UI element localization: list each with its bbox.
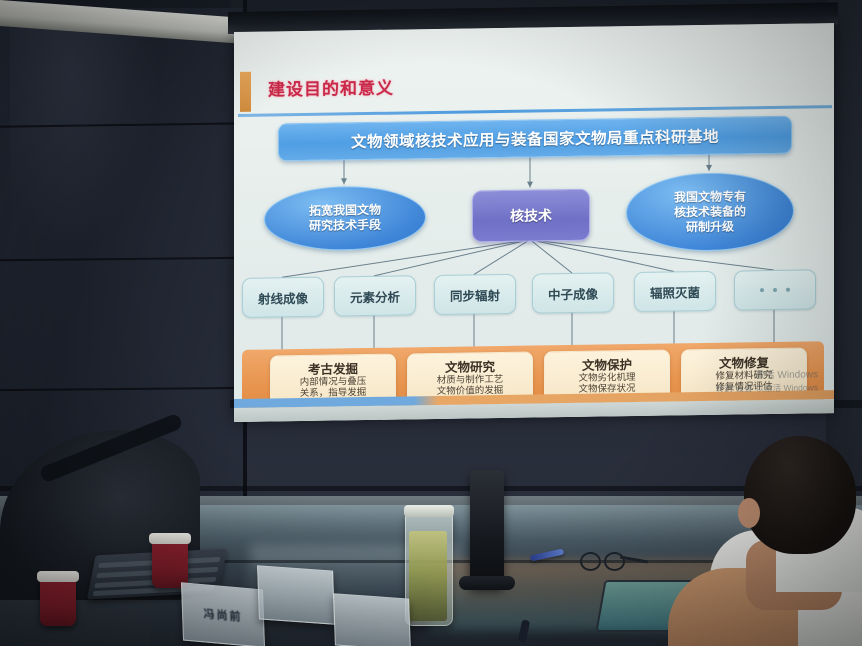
ellipsis-icon <box>760 288 790 292</box>
org-diagram: 文物领域核技术应用与装备国家文物局重点科研基地 拓宽我国文物 研究技术手段 核技… <box>234 109 834 414</box>
wall-seam <box>0 257 246 262</box>
title-accent-bar <box>240 72 251 112</box>
application-line1: 文物劣化机理 <box>578 372 635 384</box>
technique-label: 元素分析 <box>350 286 400 306</box>
attendee-head <box>744 436 856 554</box>
name-plate-text: 冯尚前 <box>190 590 255 640</box>
technique-label: 同步辐射 <box>450 285 500 305</box>
technique-label: 辐照灭菌 <box>650 282 700 302</box>
application-heading: 考古发掘 <box>308 362 358 377</box>
paper-cup <box>152 540 188 588</box>
cup-lid <box>149 533 191 544</box>
diagram-core-node: 核技术 <box>472 189 590 243</box>
application-line1: 材质与制作工艺 <box>437 374 504 386</box>
wall-seam <box>0 387 246 391</box>
goal-left-line1: 拓宽我国文物 <box>309 203 381 219</box>
cup-lid <box>37 571 79 582</box>
goal-left-line2: 研究技术手段 <box>309 218 381 234</box>
diagram-top-node: 文物领域核技术应用与装备国家文物局重点科研基地 <box>278 116 792 162</box>
technique-node-4: 中子成像 <box>532 272 614 313</box>
photo-scene: 建设目的和意义 <box>0 0 862 646</box>
technique-node-more <box>734 269 816 310</box>
paper-cup <box>40 578 76 626</box>
attendee <box>692 436 862 646</box>
microphone-base <box>459 576 515 590</box>
technique-node-5: 辐照灭菌 <box>634 271 716 312</box>
goal-right-line2: 核技术装备的 <box>674 204 746 220</box>
wall-light-glow <box>10 28 160 248</box>
name-plate <box>257 565 335 624</box>
technique-label: 射线成像 <box>258 287 308 307</box>
presentation-slide: 建设目的和意义 <box>234 23 834 422</box>
application-line1: 内部情况与叠压 <box>300 376 367 388</box>
technique-label: 中子成像 <box>548 283 598 303</box>
technique-node-2: 元素分析 <box>334 275 416 316</box>
screen-surface: 建设目的和意义 <box>234 23 834 422</box>
name-plate-text <box>266 573 325 617</box>
attendee-ear <box>738 498 760 528</box>
top-node-label: 文物领域核技术应用与装备国家文物局重点科研基地 <box>351 125 719 152</box>
goal-right-line1: 我国文物专有 <box>674 189 746 205</box>
eyeglasses <box>580 552 646 570</box>
technique-node-3: 同步辐射 <box>434 274 516 315</box>
name-plate: 冯尚前 <box>181 582 265 646</box>
name-plate <box>333 593 411 646</box>
application-heading: 文物研究 <box>445 360 495 375</box>
slide-title: 建设目的和意义 <box>268 74 394 101</box>
projection-screen: 建设目的和意义 <box>228 12 838 424</box>
tea-leaves <box>409 531 447 621</box>
microphone <box>470 470 504 588</box>
name-plate-text <box>342 601 401 643</box>
tea-jar <box>405 512 453 626</box>
goal-right-line3: 研制升级 <box>686 219 734 235</box>
jar-cap <box>404 505 454 517</box>
technique-node-1: 射线成像 <box>242 277 324 318</box>
core-node-label: 核技术 <box>510 205 552 226</box>
application-heading: 文物修复 <box>719 356 769 371</box>
application-line1: 修复材料研究 <box>715 370 772 382</box>
application-heading: 文物保护 <box>582 358 632 373</box>
